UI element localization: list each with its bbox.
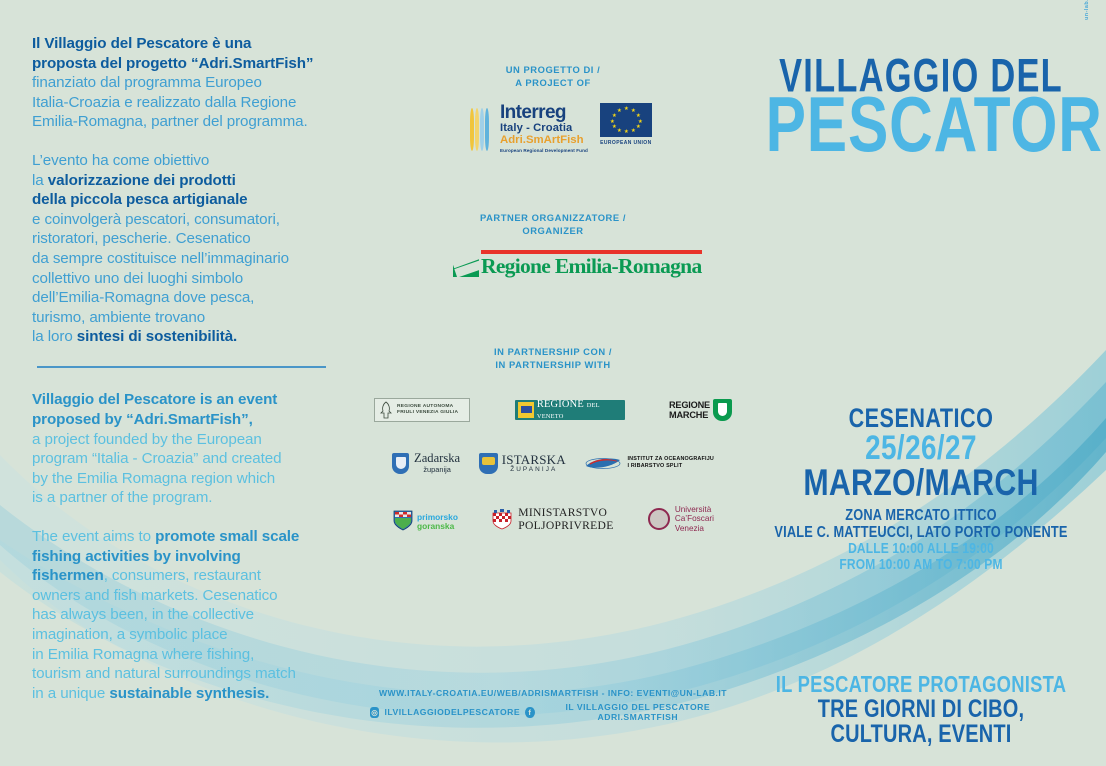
emilia-romagna-mark-icon: [453, 253, 479, 277]
eu-caption: EUROPEAN UNION: [600, 140, 652, 146]
en-p2-l4: owners and fish markets. Cesenatico: [32, 587, 278, 604]
partner-logo-grid: REGIONE AUTONOMA FRIULI VENEZIA GIULIA R…: [370, 398, 736, 533]
poster-canvas: Il Villaggio del Pescatore è una propost…: [0, 0, 1106, 766]
marche-line2: MARCHE: [669, 410, 710, 420]
en-p2-l5: has always been, in the collective: [32, 606, 254, 623]
logo-izor-split: INSTITUT ZA OCEANOGRAFIJU I RIBARSTVO SP…: [584, 456, 714, 471]
eagle-icon: [378, 401, 394, 420]
logo-ca-foscari-venezia: Università Ca’Foscari Venezia: [648, 505, 714, 533]
interreg-program: Adri.SmArtFish: [500, 135, 588, 146]
project-label-line1: UN PROGETTO DI /: [370, 64, 736, 77]
zadar-crest-icon: [392, 453, 409, 474]
regione-emilia-romagna-logo: Regione Emilia-Romagna: [453, 250, 653, 277]
interreg-name: Interreg: [500, 103, 588, 122]
logo-regione-marche: REGIONE MARCHE: [669, 399, 732, 421]
ministarstvo-line2: POLJOPRIVREDE: [518, 519, 613, 532]
marche-line1: REGIONE: [669, 400, 710, 410]
it-p1-l4: Italia-Croazia e realizzato dalla Region…: [32, 94, 296, 111]
cafoscari-line2: Ca’Foscari: [675, 514, 714, 523]
it-p2-l5: ristoratori, pescherie. Cesenatico: [32, 230, 251, 247]
eu-flag-icon: ★ ★ ★ ★ ★ ★ ★ ★ ★ ★ ★ ★: [600, 103, 652, 137]
it-p1-l5: Emilia-Romagna, partner del programma.: [32, 113, 308, 130]
en-p2-l6: imagination, a symbolic place: [32, 626, 227, 643]
cafoscari-line1: Università: [675, 505, 714, 514]
emilia-romagna-wordmark: Regione Emilia-Romagna: [481, 255, 702, 277]
partnership-label-line2: IN PARTNERSHIP WITH: [370, 359, 736, 372]
organizer-label-line2: ORGANIZER: [370, 225, 736, 238]
it-p1-l1: Il Villaggio del Pescatore è una: [32, 35, 251, 52]
it-p2-l6: da sempre costituisce nell’immaginario: [32, 250, 289, 267]
ministarstvo-wordmark: MINISTARSTVO POLJOPRIVREDE: [518, 506, 613, 532]
it-p1-l2: proposta del progetto “Adri.SmartFish”: [32, 55, 313, 72]
instagram-handle[interactable]: ILVILLAGGIODELPESCATORE: [384, 707, 520, 717]
izor-line1: INSTITUT ZA OCEANOGRAFIJU: [627, 456, 714, 463]
en-p1-l1: Villaggio del Pescatore is an event: [32, 391, 277, 408]
interreg-sub: Italy - Croatia: [500, 123, 588, 134]
en-p1-l2: proposed by “Adri.SmartFish”,: [32, 411, 253, 428]
en-p1-l4: program “Italia - Croazia” and created: [32, 450, 281, 467]
logo-ministarstvo-poljoprivrede: MINISTARSTVO POLJOPRIVREDE: [492, 506, 613, 532]
it-p2-l1: L’evento ha come obiettivo: [32, 152, 209, 169]
ca-foscari-seal-icon: [648, 508, 670, 530]
logo-primorsko-goranska: primorsko goranska: [392, 508, 458, 531]
en-p2-l9-lead: in a unique: [32, 685, 109, 702]
istarska-line2: ŽUPANIJA: [502, 466, 566, 474]
it-p2-l9: turismo, ambiente trovano: [32, 309, 205, 326]
it-p1-l3: finanziato dal programma Europeo: [32, 74, 262, 91]
it-p2-l7: collettivo uno dei luoghi simbolo: [32, 270, 243, 287]
website-url[interactable]: WWW.ITALY-CROATIA.EU/WEB/ADRISMARTFISH -…: [370, 688, 736, 698]
center-credits-panel: UN PROGETTO DI / A PROJECT OF Interreg I…: [370, 0, 736, 766]
en-p2-l1-lead: The event aims to: [32, 528, 155, 545]
right-hero-panel: VILLAGGIO DEL PESCATORE INGRESSO GRATUIT…: [736, 0, 1106, 766]
italian-paragraph-1: Il Villaggio del Pescatore è una propost…: [32, 34, 332, 132]
event-tagline: IL PESCATORE PROTAGONISTA TRE GIORNI DI …: [736, 673, 1106, 747]
zadar-line1: Zadarska: [414, 452, 460, 465]
en-p1-l5: by the Emilia Romagna region which: [32, 470, 275, 487]
tagline-line-1: IL PESCATORE PROTAGONISTA: [773, 673, 1069, 696]
it-p2-l8: dell’Emilia-Romagna dove pesca,: [32, 289, 254, 306]
title-line-2: PESCATORE: [766, 89, 1077, 160]
cafoscari-wordmark: Università Ca’Foscari Venezia: [675, 505, 714, 533]
italian-paragraph-2: L’evento ha come obiettivo la valorizzaz…: [32, 151, 332, 347]
istarska-line1: ISTARSKA: [502, 453, 566, 466]
instagram-icon[interactable]: ◎: [370, 707, 379, 718]
facebook-handle[interactable]: IL VILLAGGIO DEL PESCATORE ADRI.SMARTFIS…: [540, 702, 736, 722]
organizer-label-line1: PARTNER ORGANIZZATORE /: [370, 212, 736, 225]
interreg-bars-icon: [470, 108, 492, 151]
logo-istarska-zupanija: ISTARSKA ŽUPANIJA: [479, 453, 566, 474]
cafoscari-line3: Venezia: [675, 524, 714, 533]
veneto-line1: REGIONE: [537, 399, 584, 410]
event-city: CESENATICO: [773, 404, 1069, 432]
marche-shield-icon: [713, 399, 732, 421]
en-p2-l8: tourism and natural surroundings match: [32, 665, 296, 682]
english-paragraph-2: The event aims to promote small scale fi…: [32, 527, 332, 703]
en-p1-l6: is a partner of the program.: [32, 489, 212, 506]
primorsko-line2: goranska: [417, 522, 458, 531]
project-label-line2: A PROJECT OF: [370, 77, 736, 90]
croatia-crest-icon: [492, 508, 512, 530]
event-hours-it: DALLE 10:00 ALLE 19:00: [773, 541, 1069, 557]
marche-wordmark: REGIONE MARCHE: [669, 400, 710, 420]
poster-title: VILLAGGIO DEL PESCATORE: [736, 56, 1106, 158]
en-p1-l3: a project founded by the European: [32, 431, 262, 448]
english-paragraph-1: Villaggio del Pescatore is an event prop…: [32, 390, 332, 508]
izor-text: INSTITUT ZA OCEANOGRAFIJU I RIBARSTVO SP…: [627, 456, 714, 471]
izor-line2: I RIBARSTVO SPLIT: [627, 463, 714, 470]
it-p2-l2: valorizzazione dei prodotti: [48, 172, 236, 189]
en-p2-l3-head: fishermen: [32, 567, 104, 584]
en-p2-l9: sustainable synthesis.: [109, 685, 269, 702]
izor-fish-icon: [584, 456, 622, 471]
en-p2-l2: fishing activities by involving: [32, 548, 241, 565]
veneto-wordmark: REGIONE DEL VENETO: [537, 399, 625, 421]
partnership-label-line1: IN PARTNERSHIP CON /: [370, 346, 736, 359]
en-p2-l7: in Emilia Romagna where fishing,: [32, 646, 254, 663]
event-hours-en: FROM 10:00 AM TO 7:00 PM: [773, 557, 1069, 573]
logo-regione-del-veneto: REGIONE DEL VENETO: [515, 400, 625, 420]
interreg-logo: Interreg Italy - Croatia Adri.SmArtFish …: [470, 103, 652, 154]
it-p2-l3: della piccola pesca artigianale: [32, 191, 248, 208]
interreg-wordmark: Interreg Italy - Croatia Adri.SmArtFish …: [500, 103, 588, 154]
istria-goat-icon: [479, 453, 498, 474]
it-p2-l2-lead: la: [32, 172, 48, 189]
ministarstvo-line1: MINISTARSTVO: [518, 506, 613, 519]
eu-emblem: ★ ★ ★ ★ ★ ★ ★ ★ ★ ★ ★ ★ EUROPEAN UNION: [600, 103, 652, 146]
tagline-line-2: TRE GIORNI DI CIBO, CULTURA, EVENTI: [773, 697, 1069, 747]
interreg-fund: European Regional Development Fund: [500, 149, 588, 154]
event-dates: 25/26/27: [769, 432, 1072, 465]
social-links: ◎ ILVILLAGGIODELPESCATORE f IL VILLAGGIO…: [370, 702, 736, 722]
it-p2-l4: e coinvolgerà pescatori, consumatori,: [32, 211, 280, 228]
left-text-panel: Il Villaggio del Pescatore è una propost…: [32, 34, 332, 722]
fvg-line2: FRIULI VENEZIA GIULIA: [397, 410, 458, 416]
en-p2-l1: promote small scale: [155, 528, 299, 545]
fvg-text: REGIONE AUTONOMA FRIULI VENEZIA GIULIA: [397, 404, 458, 417]
facebook-icon[interactable]: f: [525, 707, 534, 718]
logo-zadarska-zupanija: Zadarska županija: [392, 452, 460, 474]
en-p2-l3-tail: , consumers, restaurant: [104, 567, 261, 584]
section-divider: [37, 366, 326, 369]
logo-friuli-venezia-giulia: REGIONE AUTONOMA FRIULI VENEZIA GIULIA: [374, 398, 470, 422]
it-p2-l10-lead: la loro: [32, 328, 77, 345]
primorsko-crest-icon: [392, 508, 414, 531]
event-month: MARZO/MARCH: [769, 465, 1072, 501]
event-venue-line-1: ZONA MERCATO ITTICO: [773, 508, 1069, 525]
event-details: CESENATICO 25/26/27 MARZO/MARCH ZONA MER…: [736, 404, 1106, 572]
zadar-line2: županija: [414, 465, 460, 474]
event-venue-line-2: VIALE C. MATTEUCCI, LATO PORTO PONENTE: [773, 525, 1069, 542]
web-contact-info: WWW.ITALY-CROATIA.EU/WEB/ADRISMARTFISH -…: [370, 688, 736, 722]
it-p2-l10: sintesi di sostenibilità.: [77, 328, 237, 345]
veneto-lion-icon: [518, 402, 534, 418]
